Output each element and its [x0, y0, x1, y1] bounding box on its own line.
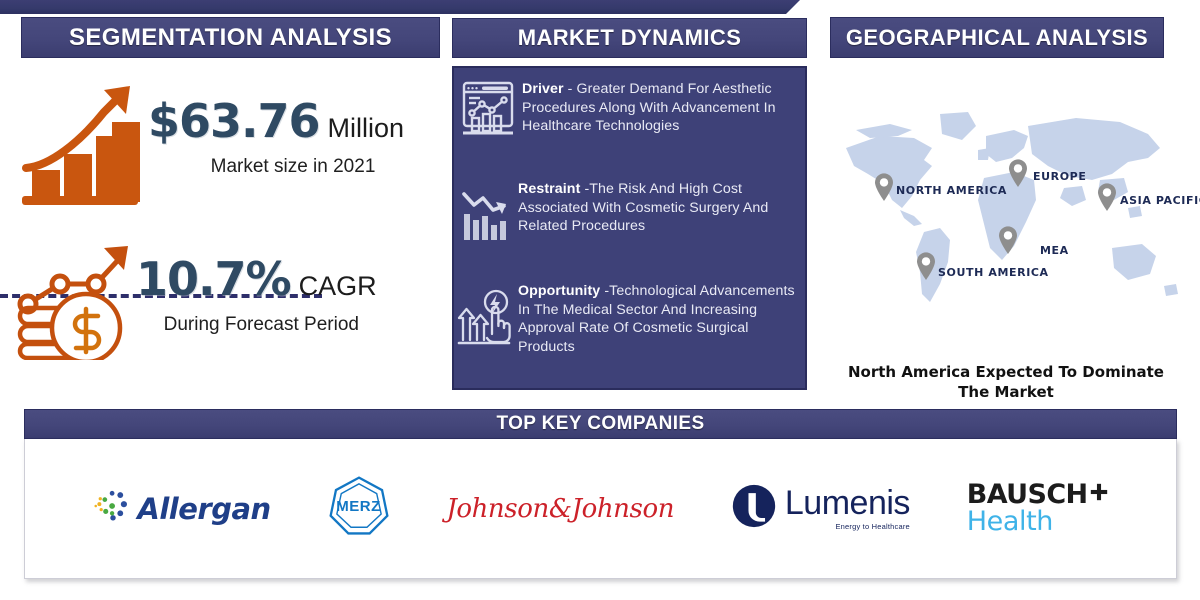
geographical-panel: NORTH AMERICA EUROPE ASIA PACIFIC — [820, 66, 1190, 396]
lumenis-mark-icon — [731, 483, 777, 534]
geo-label-mea: MEA — [1040, 244, 1069, 257]
market-size-value: $63.76 — [148, 98, 320, 144]
bausch-plus-icon — [1090, 483, 1108, 506]
market-dynamics-header-label: MARKET DYNAMICS — [518, 25, 742, 51]
logo-allergan[interactable]: Allergan — [93, 474, 270, 544]
geographical-caption: North America Expected To Dominate The M… — [830, 362, 1182, 403]
map-pin-icon[interactable] — [1007, 158, 1029, 188]
market-dynamics-item-label: Driver — [522, 81, 564, 97]
market-dynamics-panel: Driver - Greater Demand For Aesthetic Pr… — [452, 66, 807, 390]
market-dynamics-item-text: Restraint -The Risk And High Cost Associ… — [518, 178, 805, 236]
cagr-value-row: 10.7% CAGR — [136, 256, 377, 302]
market-dynamics-item-text: Opportunity -Technological Advancements … — [518, 280, 805, 357]
johnson-script-icon: Johnson&Johnson — [446, 494, 674, 524]
lumenis-tagline: Energy to Healthcare — [785, 522, 910, 531]
map-pin-icon[interactable] — [997, 225, 1019, 255]
lumenis-label: Lumenis — [785, 486, 910, 520]
logo-johnson-and-johnson[interactable]: Johnson&Johnson — [446, 474, 674, 544]
key-companies-header-label: TOP KEY COMPANIES — [496, 413, 704, 435]
geo-label-asia-pacific: ASIA PACIFIC — [1120, 194, 1200, 207]
segmentation-header: SEGMENTATION ANALYSIS — [21, 17, 440, 58]
top-ribbon-decoration — [0, 0, 800, 14]
logo-lumenis[interactable]: Lumenis Energy to Healthcare — [731, 474, 910, 544]
cagr-unit: CAGR — [299, 271, 377, 302]
logo-row: Allergan MERZ Johnson&Johnson — [25, 439, 1176, 578]
market-dynamics-item-separator: - — [564, 81, 577, 97]
geo-label-europe: EUROPE — [1033, 170, 1086, 183]
cagr-text: 10.7% CAGR During Forecast Period — [136, 256, 377, 336]
market-size-text: $63.76 Million Market size in 2021 — [148, 98, 404, 178]
logo-merz[interactable]: MERZ — [328, 474, 390, 544]
market-dynamics-item-driver: Driver - Greater Demand For Aesthetic Pr… — [460, 78, 805, 140]
market-size-unit: Million — [328, 113, 405, 144]
growth-bar-chart-arrow-icon — [8, 70, 148, 206]
infographic-root: SEGMENTATION ANALYSIS — [0, 0, 1200, 600]
market-dynamics-header: MARKET DYNAMICS — [452, 18, 807, 58]
dashboard-analytics-icon — [460, 78, 516, 140]
cagr-caption: During Forecast Period — [146, 314, 377, 336]
hand-lightning-growth-icon — [456, 288, 512, 350]
market-dynamics-item-label: Restraint — [518, 181, 580, 197]
market-size-value-row: $63.76 Million — [148, 98, 404, 144]
map-pin-icon[interactable] — [873, 172, 895, 202]
allergan-label: Allergan — [137, 492, 270, 526]
map-pin-icon[interactable] — [1096, 182, 1118, 212]
market-size-stat: $63.76 Million Market size in 2021 — [8, 70, 404, 206]
market-dynamics-item-label: Opportunity — [518, 283, 600, 299]
cagr-value: 10.7% — [136, 256, 291, 302]
world-map-svg — [828, 96, 1188, 336]
market-dynamics-item-separator: - — [580, 181, 589, 197]
market-dynamics-item-text: Driver - Greater Demand For Aesthetic Pr… — [522, 78, 805, 136]
geo-label-south-america: SOUTH AMERICA — [938, 266, 1049, 279]
key-companies-panel: Allergan MERZ Johnson&Johnson — [24, 439, 1177, 579]
declining-bar-chart-icon — [456, 184, 512, 246]
geographical-header: GEOGRAPHICAL ANALYSIS — [830, 17, 1164, 58]
cagr-stat: 10.7% CAGR During Forecast Period — [4, 232, 377, 360]
geographical-header-label: GEOGRAPHICAL ANALYSIS — [846, 25, 1148, 51]
coins-growth-dollar-icon — [4, 232, 136, 360]
market-size-caption: Market size in 2021 — [182, 156, 404, 178]
bausch-label: BAUSCH — [967, 481, 1088, 509]
geo-label-north-america: NORTH AMERICA — [896, 184, 1007, 197]
merz-heptagon-icon: MERZ — [328, 475, 390, 542]
key-companies-header: TOP KEY COMPANIES — [24, 409, 1177, 439]
market-dynamics-item-restraint: Restraint -The Risk And High Cost Associ… — [456, 178, 805, 246]
world-map: NORTH AMERICA EUROPE ASIA PACIFIC — [828, 96, 1188, 336]
segmentation-panel: $63.76 Million Market size in 2021 — [0, 62, 448, 392]
logo-bausch-health[interactable]: BAUSCH Health — [967, 474, 1108, 544]
market-dynamics-item-separator: - — [600, 283, 609, 299]
allergan-dots-icon — [93, 486, 133, 531]
bausch-health-label: Health — [967, 508, 1053, 536]
map-pin-icon[interactable] — [915, 251, 937, 281]
market-dynamics-item-opportunity: Opportunity -Technological Advancements … — [456, 280, 805, 357]
segmentation-header-label: SEGMENTATION ANALYSIS — [69, 24, 392, 52]
merz-label: MERZ — [328, 475, 390, 537]
